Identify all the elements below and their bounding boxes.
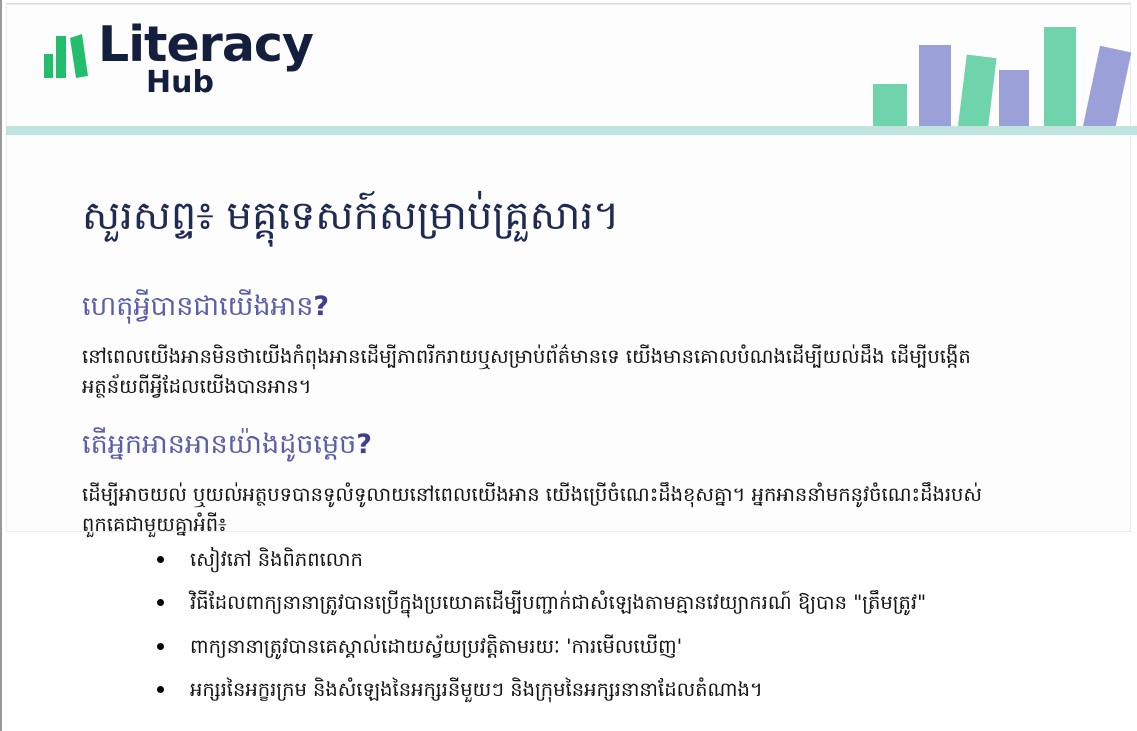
logo-wordmark: Literacy Hub <box>98 22 313 97</box>
book-shelf-decoration <box>857 0 1137 135</box>
list-item: សៀវភៅ និងពិភពលោក <box>150 545 1030 574</box>
list-item-text: សៀវភៅ និងពិភពលោក <box>190 548 363 571</box>
books-logo-icon <box>44 26 92 78</box>
section-2-paragraph: ដើម្បីអាចយល់ ឬយល់អត្ថបទបានទូលំទូលាយនៅពេល… <box>82 480 1012 540</box>
logo-title: Literacy <box>98 22 313 67</box>
section-1-heading-text: ហេតុអ្វីបានជាយើងអាន <box>82 291 313 322</box>
page-title: សួរសព្ទ៖ មគ្គុទេសក៍សម្រាប់គ្រួសារ។ <box>82 190 620 249</box>
section-1-paragraph: នៅពេលយើងអានមិនថាយើងកំពុងអានដើម្បីភាពរីករ… <box>82 342 1012 402</box>
section-2-bullet-list: សៀវភៅ និងពិភពលោក វិធីដែលពាក្យនានាត្រូវបា… <box>150 545 1030 718</box>
section-2-heading-question-mark: ? <box>356 429 372 460</box>
list-item: ពាក្យនានាត្រូវបានគេស្គាល់ដោយស្វ័យប្រវត្ត… <box>150 632 1030 661</box>
bullet-dot-icon <box>157 643 164 650</box>
book-6 <box>1083 46 1131 133</box>
list-item: វិធីដែលពាក្យនានាត្រូវបានប្រើក្នុងប្រយោគដ… <box>150 588 1030 617</box>
list-item-text: ពាក្យនានាត្រូវបានគេស្គាល់ដោយស្វ័យប្រវត្ត… <box>190 635 682 658</box>
header-divider-band <box>6 126 1137 135</box>
list-item-text: អក្សរនៃអក្ខរក្រម និងសំឡេងនៃអក្សរនីមួយៗ ន… <box>190 678 763 701</box>
list-item: អក្សរនៃអក្ខរក្រម និងសំឡេងនៃអក្សរនីមួយៗ ន… <box>150 675 1030 704</box>
bullet-dot-icon <box>157 556 164 563</box>
book-1 <box>873 84 907 126</box>
book-4 <box>999 70 1029 126</box>
section-2-heading-text: តើអ្នកអានអានយ៉ាងដូចម្តេច <box>82 429 356 460</box>
book-2 <box>919 45 951 126</box>
book-3 <box>958 55 997 130</box>
document-page: Literacy Hub សួរសព្ទ៖ មគ្គុទេសក៍សម្រាប់គ… <box>0 0 1137 731</box>
book-5 <box>1044 27 1076 126</box>
section-heading-how-readers-read: តើអ្នកអានអានយ៉ាងដូចម្តេច? <box>82 428 372 467</box>
section-1-heading-question-mark: ? <box>313 291 329 322</box>
literacy-hub-logo[interactable]: Literacy Hub <box>44 22 313 97</box>
logo-subtitle: Hub <box>146 69 313 97</box>
section-heading-why-we-read: ហេតុអ្វីបានជាយើងអាន? <box>82 290 329 329</box>
page-header: Literacy Hub <box>0 0 1137 135</box>
bullet-dot-icon <box>157 599 164 606</box>
bullet-dot-icon <box>157 686 164 693</box>
list-item-text: វិធីដែលពាក្យនានាត្រូវបានប្រើក្នុងប្រយោគដ… <box>190 591 926 614</box>
